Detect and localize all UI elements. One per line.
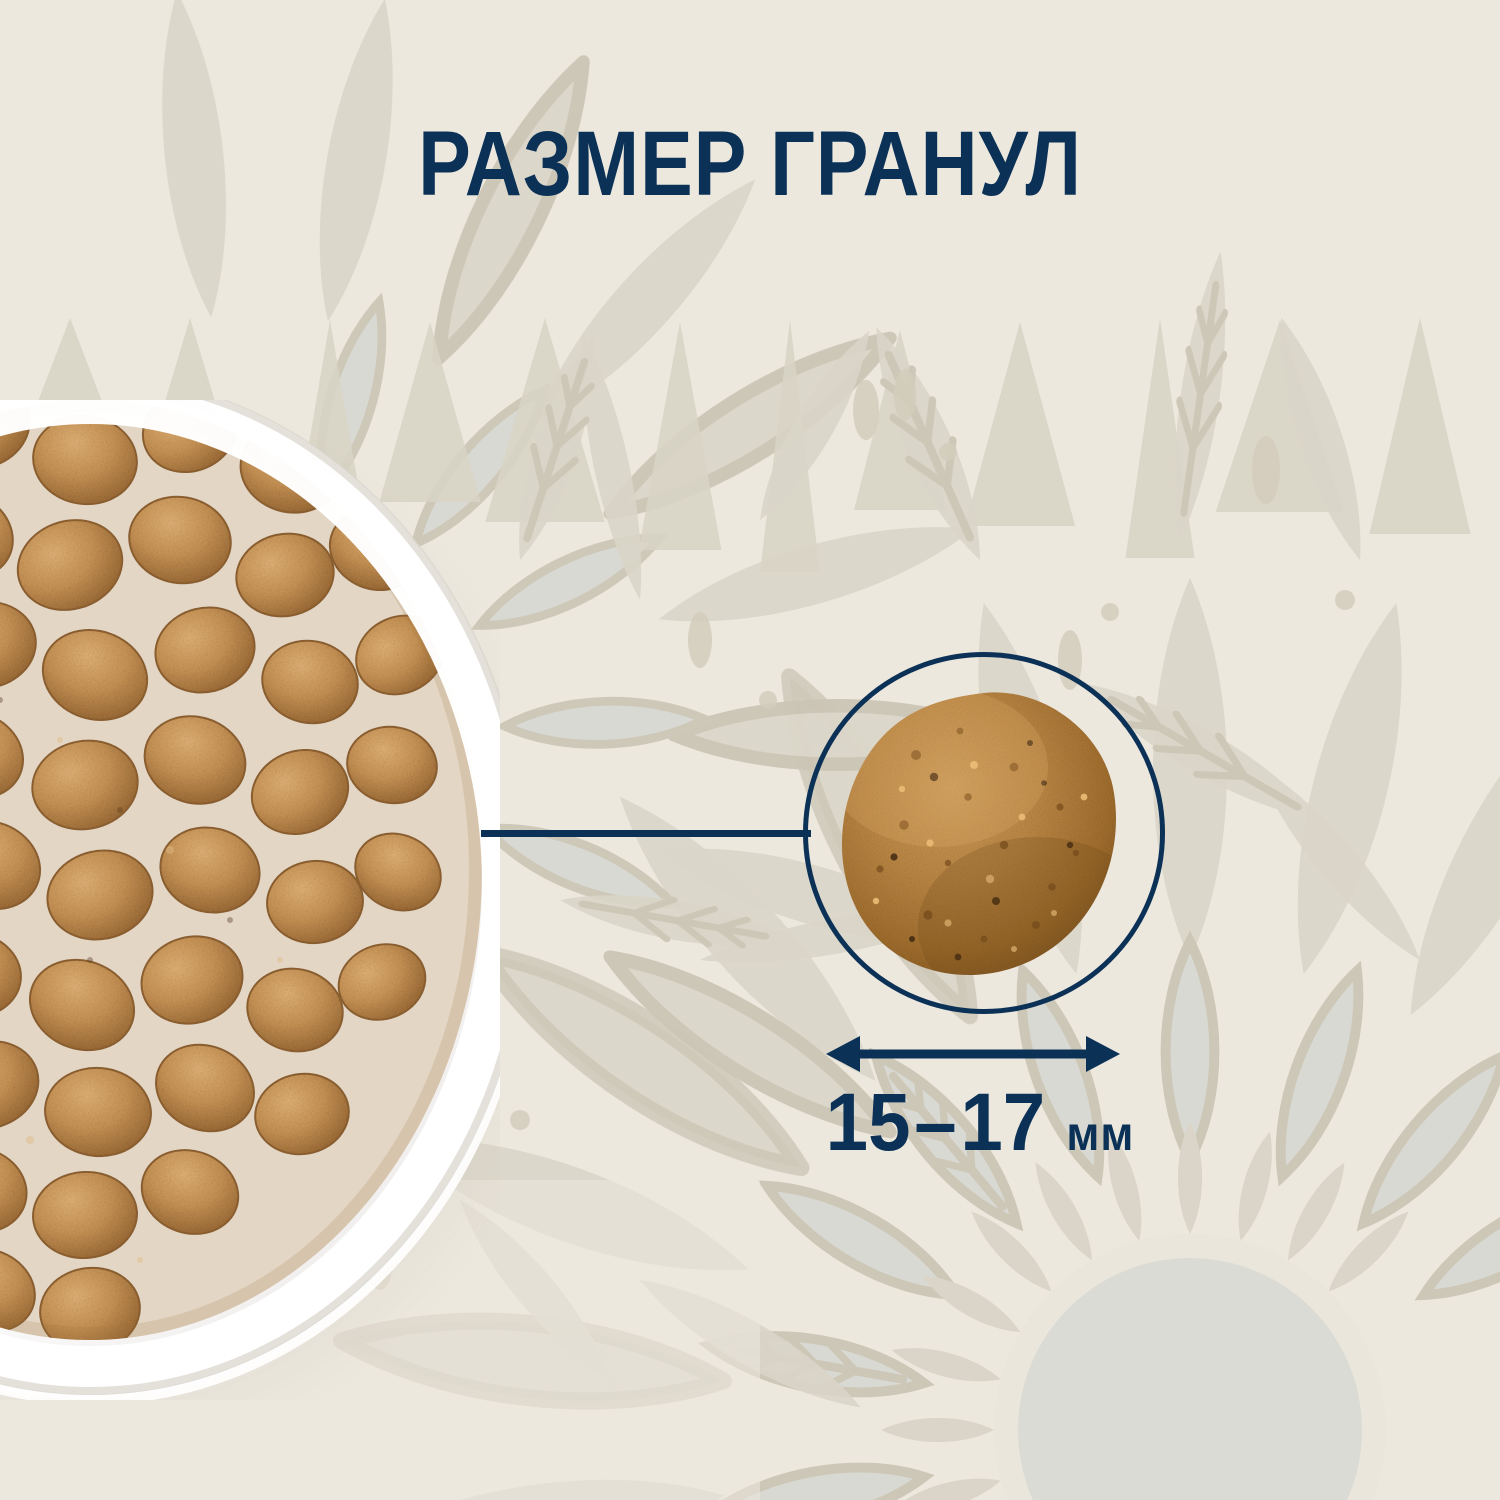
leader-line [481, 830, 811, 837]
magnified-kibble [808, 657, 1160, 1009]
measurement-max: 17 [960, 1077, 1045, 1168]
dimension-arrow [826, 1032, 1120, 1076]
page-title: РАЗМЕР ГРАНУЛ [105, 118, 1395, 210]
measurement-unit: мм [1066, 1108, 1134, 1161]
bowl-of-kibble-photo [0, 400, 500, 1400]
measurement-dash: – [911, 1077, 961, 1168]
kibble-callout-circle [803, 652, 1165, 1014]
arrow-head-right [1086, 1036, 1120, 1072]
measurement-label: 15–17 мм [720, 1082, 1241, 1164]
product-infographic: РАЗМЕР ГРАНУЛ [0, 0, 1500, 1500]
measurement-min: 15 [826, 1077, 911, 1168]
arrow-head-left [826, 1036, 860, 1072]
